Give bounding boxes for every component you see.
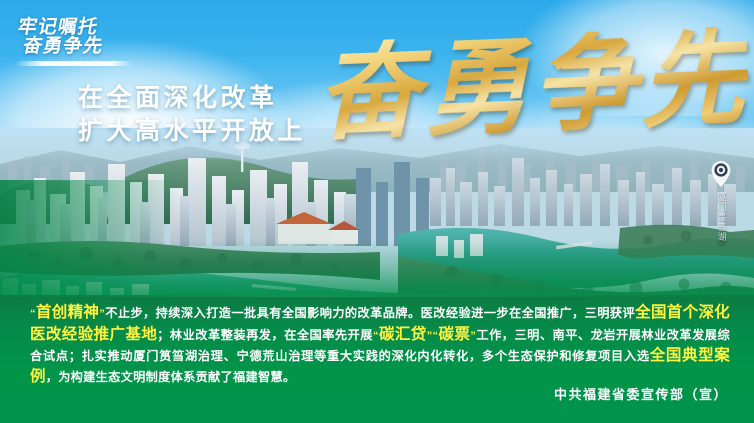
signature: 中共福建省委宣传部（宣） <box>554 384 728 403</box>
body-segment-highlight: 碳票 <box>438 326 470 343</box>
body-segment-normal: ，为构建生态文明制度体系贡献了福建智慧。 <box>46 370 296 384</box>
headline-line-1: 在全面深化改革 <box>78 82 306 115</box>
cityscape-photo <box>0 128 754 303</box>
body-segment-normal: 不止步，持续深入打造一批具有全国影响力的改革品牌。医改经验进一步在全国推广，三明… <box>105 306 635 320</box>
body-segment-highlight: 首创精神 <box>36 304 99 321</box>
headline-line-2: 扩大高水平开放上 <box>78 115 306 148</box>
body-segment-normal: ；林业改革整装再发，在全国率先开展 <box>157 328 373 342</box>
body-segment-highlight: 碳汇贷 <box>379 326 427 343</box>
logo-swoosh-icon <box>14 61 133 66</box>
calligraphy-title: 奋勇争先 <box>314 26 750 147</box>
headline: 在全面深化改革 扩大高水平开放上 <box>78 82 306 148</box>
body-paragraph: “首创精神”不止步，持续深入打造一批具有全国影响力的改革品牌。医改经验进一步在全… <box>30 303 730 387</box>
band-top-divider <box>0 295 754 297</box>
poster-canvas: 牢记嘱托 奋勇争先 在全面深化改革 扩大高水平开放上 奋勇争先 厦门筼筜湖 “首… <box>0 0 754 423</box>
campaign-logo: 牢记嘱托 奋勇争先 <box>12 18 109 57</box>
logo-line-2: 奋勇争先 <box>12 37 105 56</box>
logo-line-1: 牢记嘱托 <box>16 18 109 37</box>
